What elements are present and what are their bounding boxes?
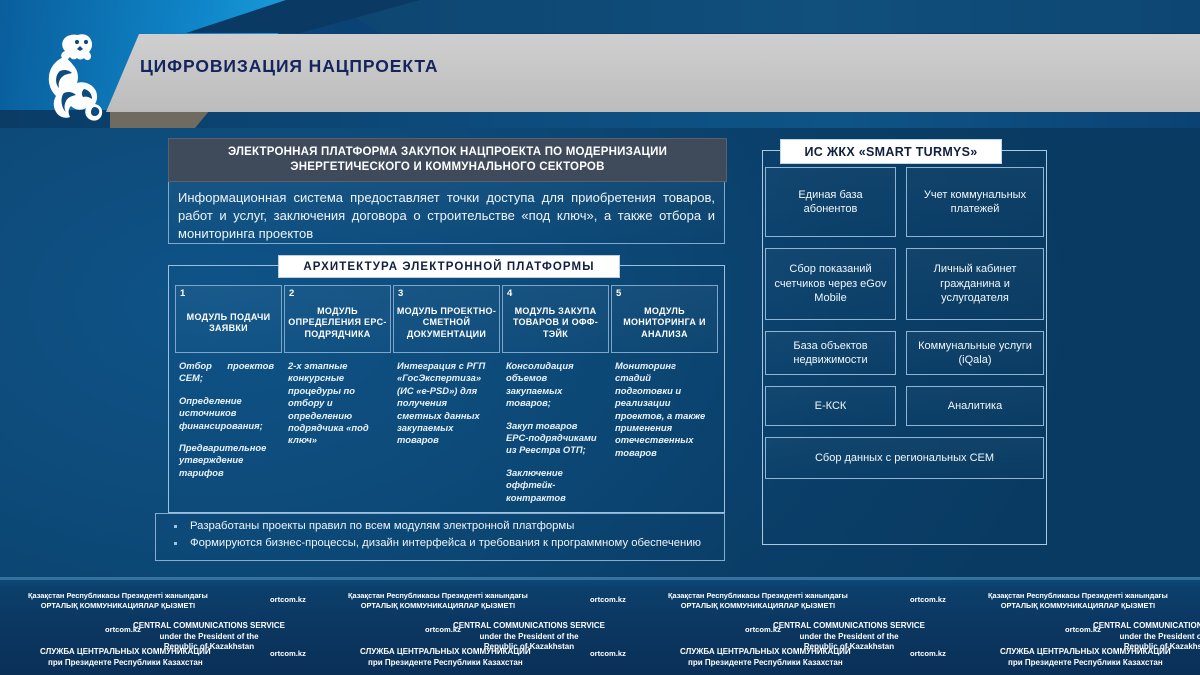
turmys-cell-meter-readings[interactable]: Сбор показаний счетчиков через eGov Mobi… [765,248,896,320]
footer-kz-line1: Қазақстан Республикасы Президенті жанынд… [348,591,528,601]
module-body-2: 2-х этапные конкурсные процедуры по отбо… [284,358,391,508]
footer-ru-line1: СЛУЖБА ЦЕНТРАЛЬНЫХ КОММУНИКАЦИЙ [680,647,851,658]
footer-en-line2: under the President of the [133,632,285,643]
slide-root: ЦИФРОВИЗАЦИЯ НАЦПРОЕКТА ЭЛЕКТРОННАЯ ПЛАТ… [0,0,1200,675]
footer-kz-block: Қазақстан Республикасы Президенті жанынд… [348,591,528,611]
footer-kz-line2: ОРТАЛЫҚ КОММУНИКАЦИЯЛАР ҚЫЗМЕТІ [348,601,528,611]
platform-description-text: Информационная система предоставляет точ… [178,189,715,243]
module-body-3: Интеграция с РГП «ГосЭкспертиза» (ИС «e-… [393,358,500,508]
footer-ru-block: СЛУЖБА ЦЕНТРАЛЬНЫХ КОММУНИКАЦИЙ при През… [680,647,851,668]
module-header-2[interactable]: 2 МОДУЛЬ ОПРЕДЕЛЕНИЯ EPC-ПОДРЯДЧИКА [284,285,391,353]
platform-title-text: ЭЛЕКТРОННАЯ ПЛАТФОРМА ЗАКУПОК НАЦПРОЕКТА… [169,145,726,175]
bullet-item: Разработаны проекты правил по всем модул… [166,519,716,535]
footer-url: ortcom.kz [590,595,626,604]
module-body-4: Консолидация объемов закупаемых товаров;… [502,358,609,508]
module-item: Отбор проектов СЕМ; [179,360,274,385]
footer-kz-line2: ОРТАЛЫҚ КОММУНИКАЦИЯЛАР ҚЫЗМЕТІ [668,601,848,611]
module-header-3[interactable]: 3 МОДУЛЬ ПРОЕКТНО-СМЕТНОЙ ДОКУМЕНТАЦИИ [393,285,500,353]
footer-url: ortcom.kz [910,595,946,604]
turmys-cell-property-base[interactable]: База объектов недвижимости [765,331,896,375]
turmys-cell-label: Аналитика [944,399,1006,414]
footer-en-line2: under the President of the [1093,632,1200,643]
footer-top-divider [0,577,1200,580]
turmys-cell-label: Учет коммунальных платежей [907,188,1043,217]
module-header-4[interactable]: 4 МОДУЛЬ ЗАКУПА ТОВАРОВ И ОФФ-ТЭЙК [502,285,609,353]
turmys-cell-label: Личный кабинет гражданина и услугодателя [907,262,1043,306]
bullet-item: Формируются бизнес-процессы, дизайн инте… [166,536,716,552]
smart-turmys-row: Сбор данных с региональных СЕМ [765,437,1044,479]
turmys-cell-label: Единая база абонентов [766,188,895,217]
module-number-5: 5 [616,288,621,299]
smart-turmys-grid: Единая база абонентов Учет коммунальных … [765,167,1044,537]
turmys-cell-label: Коммунальные услуги (iQala) [907,339,1043,368]
slide-footer: Қазақстан Республикасы Президенті жанынд… [0,577,1200,675]
footer-kz-block: Қазақстан Республикасы Президенті жанынд… [668,591,848,611]
module-number-4: 4 [507,288,512,299]
platform-title-bar: ЭЛЕКТРОННАЯ ПЛАТФОРМА ЗАКУПОК НАЦПРОЕКТА… [168,138,727,182]
module-title-1: МОДУЛЬ ПОДАЧИ ЗАЯВКИ [176,304,281,335]
footer-en-line1: CENTRAL COMMUNICATIONS SERVICE [133,621,285,632]
footer-kz-line1: Қазақстан Республикасы Президенті жанынд… [988,591,1168,601]
smart-turmys-row: Сбор показаний счетчиков через eGov Mobi… [765,248,1044,320]
footer-ru-line2: при Президенте Республики Казахстан [360,658,531,669]
module-header-row: 1 МОДУЛЬ ПОДАЧИ ЗАЯВКИ 2 МОДУЛЬ ОПРЕДЕЛЕ… [175,285,718,353]
footer-ru-line1: СЛУЖБА ЦЕНТРАЛЬНЫХ КОММУНИКАЦИЙ [40,647,211,658]
turmys-cell-personal-cabinet[interactable]: Личный кабинет гражданина и услугодателя [906,248,1044,320]
module-item: Интеграция с РГП «ГосЭкспертиза» (ИС «e-… [397,360,492,447]
module-item: Консолидация объемов закупаемых товаров; [506,360,601,410]
module-title-5: МОДУЛЬ МОНИТОРИНГА И АНАЛИЗА [612,298,717,341]
footer-url: ortcom.kz [745,625,781,634]
page-title: ЦИФРОВИЗАЦИЯ НАЦПРОЕКТА [140,56,438,77]
footer-url: ortcom.kz [910,649,946,658]
footer-kz-line2: ОРТАЛЫҚ КОММУНИКАЦИЯЛАР ҚЫЗМЕТІ [988,601,1168,611]
module-number-1: 1 [180,288,185,299]
footer-url: ortcom.kz [425,625,461,634]
architecture-label-text: АРХИТЕКТУРА ЭЛЕКТРОННОЙ ПЛАТФОРМЫ [303,261,594,273]
footer-kz-block: Қазақстан Республикасы Президенті жанынд… [28,591,208,611]
turmys-cell-label: База объектов недвижимости [766,339,895,368]
module-header-1[interactable]: 1 МОДУЛЬ ПОДАЧИ ЗАЯВКИ [175,285,282,353]
footer-ru-line1: СЛУЖБА ЦЕНТРАЛЬНЫХ КОММУНИКАЦИЙ [360,647,531,658]
footer-url: ortcom.kz [270,595,306,604]
footer-url: ortcom.kz [1065,625,1101,634]
module-body-1: Отбор проектов СЕМ; Определение источник… [175,358,282,508]
footer-en-line1: CENTRAL COMMUNICATIONS SERVICE [773,621,925,632]
module-title-3: МОДУЛЬ ПРОЕКТНО-СМЕТНОЙ ДОКУМЕНТАЦИИ [394,298,499,341]
footer-ru-block: СЛУЖБА ЦЕНТРАЛЬНЫХ КОММУНИКАЦИЙ при През… [40,647,211,668]
footer-en-line1: CENTRAL COMMUNICATIONS SERVICE [1093,621,1200,632]
snow-leopard-emblem [34,27,106,125]
module-item: Предварительное утверждение тарифов [179,442,274,479]
footer-en-line2: under the President of the [773,632,925,643]
footer-ru-line2: при Президенте Республики Казахстан [1000,658,1171,669]
turmys-cell-e-ksk[interactable]: Е-КСК [765,386,896,426]
turmys-cell-label: Е-КСК [811,399,851,414]
footer-ru-block: СЛУЖБА ЦЕНТРАЛЬНЫХ КОММУНИКАЦИЙ при През… [360,647,531,668]
module-item: Заключение оффтейк-контрактов [506,467,601,504]
footer-ru-line1: СЛУЖБА ЦЕНТРАЛЬНЫХ КОММУНИКАЦИЙ [1000,647,1171,658]
module-number-3: 3 [398,288,403,299]
footer-url: ortcom.kz [105,625,141,634]
platform-description-box: Информационная система предоставляет точ… [168,182,725,244]
smart-turmys-row: Е-КСК Аналитика [765,386,1044,426]
bullet-list: Разработаны проекты правил по всем модул… [155,513,725,561]
footer-en-line1: CENTRAL COMMUNICATIONS SERVICE [453,621,605,632]
footer-kz-block: Қазақстан Республикасы Президенті жанынд… [988,591,1168,611]
turmys-cell-utility-services[interactable]: Коммунальные услуги (iQala) [906,331,1044,375]
module-number-2: 2 [289,288,294,299]
slide-header: ЦИФРОВИЗАЦИЯ НАЦПРОЕКТА [0,0,1200,128]
turmys-cell-utility-payments[interactable]: Учет коммунальных платежей [906,167,1044,237]
module-item: 2-х этапные конкурсные процедуры по отбо… [288,360,383,447]
footer-kz-line1: Қазақстан Республикасы Президенті жанынд… [668,591,848,601]
footer-ru-line2: при Президенте Республики Казахстан [40,658,211,669]
footer-ru-block: СЛУЖБА ЦЕНТРАЛЬНЫХ КОММУНИКАЦИЙ при През… [1000,647,1171,668]
turmys-cell-regional-sem-data[interactable]: Сбор данных с региональных СЕМ [765,437,1044,479]
smart-turmys-label-text: ИС ЖКХ «SMART TURMYS» [804,145,977,159]
module-title-2: МОДУЛЬ ОПРЕДЕЛЕНИЯ EPC-ПОДРЯДЧИКА [285,298,390,341]
module-item: Мониторинг стадий подготовки и реализаци… [615,360,710,459]
smart-turmys-row: Единая база абонентов Учет коммунальных … [765,167,1044,237]
module-body-5: Мониторинг стадий подготовки и реализаци… [611,358,718,508]
turmys-cell-subscriber-base[interactable]: Единая база абонентов [765,167,896,237]
footer-kz-line2: ОРТАЛЫҚ КОММУНИКАЦИЯЛАР ҚЫЗМЕТІ [28,601,208,611]
module-body-row: Отбор проектов СЕМ; Определение источник… [175,358,718,508]
turmys-cell-label: Сбор данных с региональных СЕМ [811,451,998,466]
footer-kz-line1: Қазақстан Республикасы Президенті жанынд… [28,591,208,601]
architecture-label: АРХИТЕКТУРА ЭЛЕКТРОННОЙ ПЛАТФОРМЫ [278,255,620,278]
footer-url: ortcom.kz [590,649,626,658]
smart-turmys-label: ИС ЖКХ «SMART TURMYS» [780,139,1002,164]
footer-en-line2: under the President of the [453,632,605,643]
footer-ru-line2: при Президенте Республики Казахстан [680,658,851,669]
module-header-5[interactable]: 5 МОДУЛЬ МОНИТОРИНГА И АНАЛИЗА [611,285,718,353]
module-title-4: МОДУЛЬ ЗАКУПА ТОВАРОВ И ОФФ-ТЭЙК [503,298,608,341]
module-item: Определение источников финансирования; [179,395,274,432]
footer-url: ortcom.kz [270,649,306,658]
smart-turmys-row: База объектов недвижимости Коммунальные … [765,331,1044,375]
turmys-cell-analytics[interactable]: Аналитика [906,386,1044,426]
turmys-cell-label: Сбор показаний счетчиков через eGov Mobi… [766,262,895,306]
module-item: Закуп товаров EPC-подрядчиками из Реестр… [506,420,601,457]
